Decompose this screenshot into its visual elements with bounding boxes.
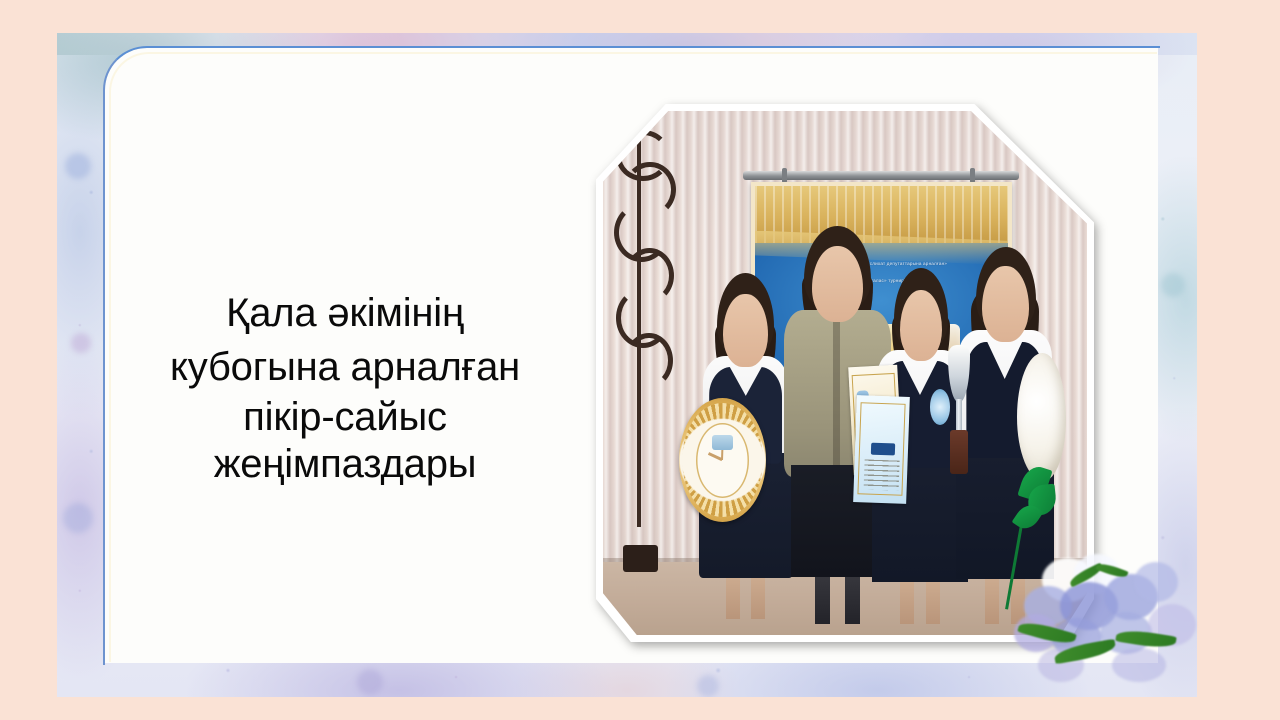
head [982,266,1029,341]
trophy-bowl [948,345,970,401]
bokeh-dot [357,669,383,695]
bokeh-dot [65,153,91,179]
gold-ornate-clock [679,398,766,522]
slide-title: Қала әкімінің кубогына арналған пікір-са… [120,286,570,488]
bokeh-dot [697,675,719,697]
certificate-ribbon [871,443,896,456]
title-line-2: кубогына арналған [120,340,570,394]
iron-base [623,545,658,572]
head [723,294,768,367]
bokeh-dot [1161,273,1185,297]
certificate-text-lines [863,460,900,491]
trophy-cup [945,345,973,473]
clock-badge [712,435,733,450]
presentation-slide: Қала әкімінің кубогына арналған пікір-са… [0,0,1280,720]
legs [811,569,864,625]
legs [897,575,944,625]
legs [723,571,768,619]
white-flower [1017,353,1066,481]
certificate [853,396,910,505]
head [812,246,863,322]
award-ceremony-photo[interactable]: «Облыстық қалалық мәслихат депутаттарына… [596,104,1094,642]
wrought-iron-stand [613,121,676,572]
clock-bead-ring [682,403,762,518]
title-line-1: Қала әкімінің [120,286,570,340]
bokeh-dot [63,503,93,533]
title-line-3: пікір-сайыс [120,394,570,441]
person-girl-with-trophy [951,247,1057,624]
banner-rail [743,171,1019,179]
legs [981,572,1028,625]
photo-scene: «Облыстық қалалық мәслихат депутаттарына… [603,111,1087,635]
trophy-base [950,430,968,474]
photo-image: «Облыстық қалалық мәслихат депутаттарына… [603,111,1087,635]
title-line-4: жеңімпаздары [120,441,570,488]
trophy-stem [956,399,962,432]
iron-scroll [625,333,673,388]
bokeh-dot [71,333,91,353]
